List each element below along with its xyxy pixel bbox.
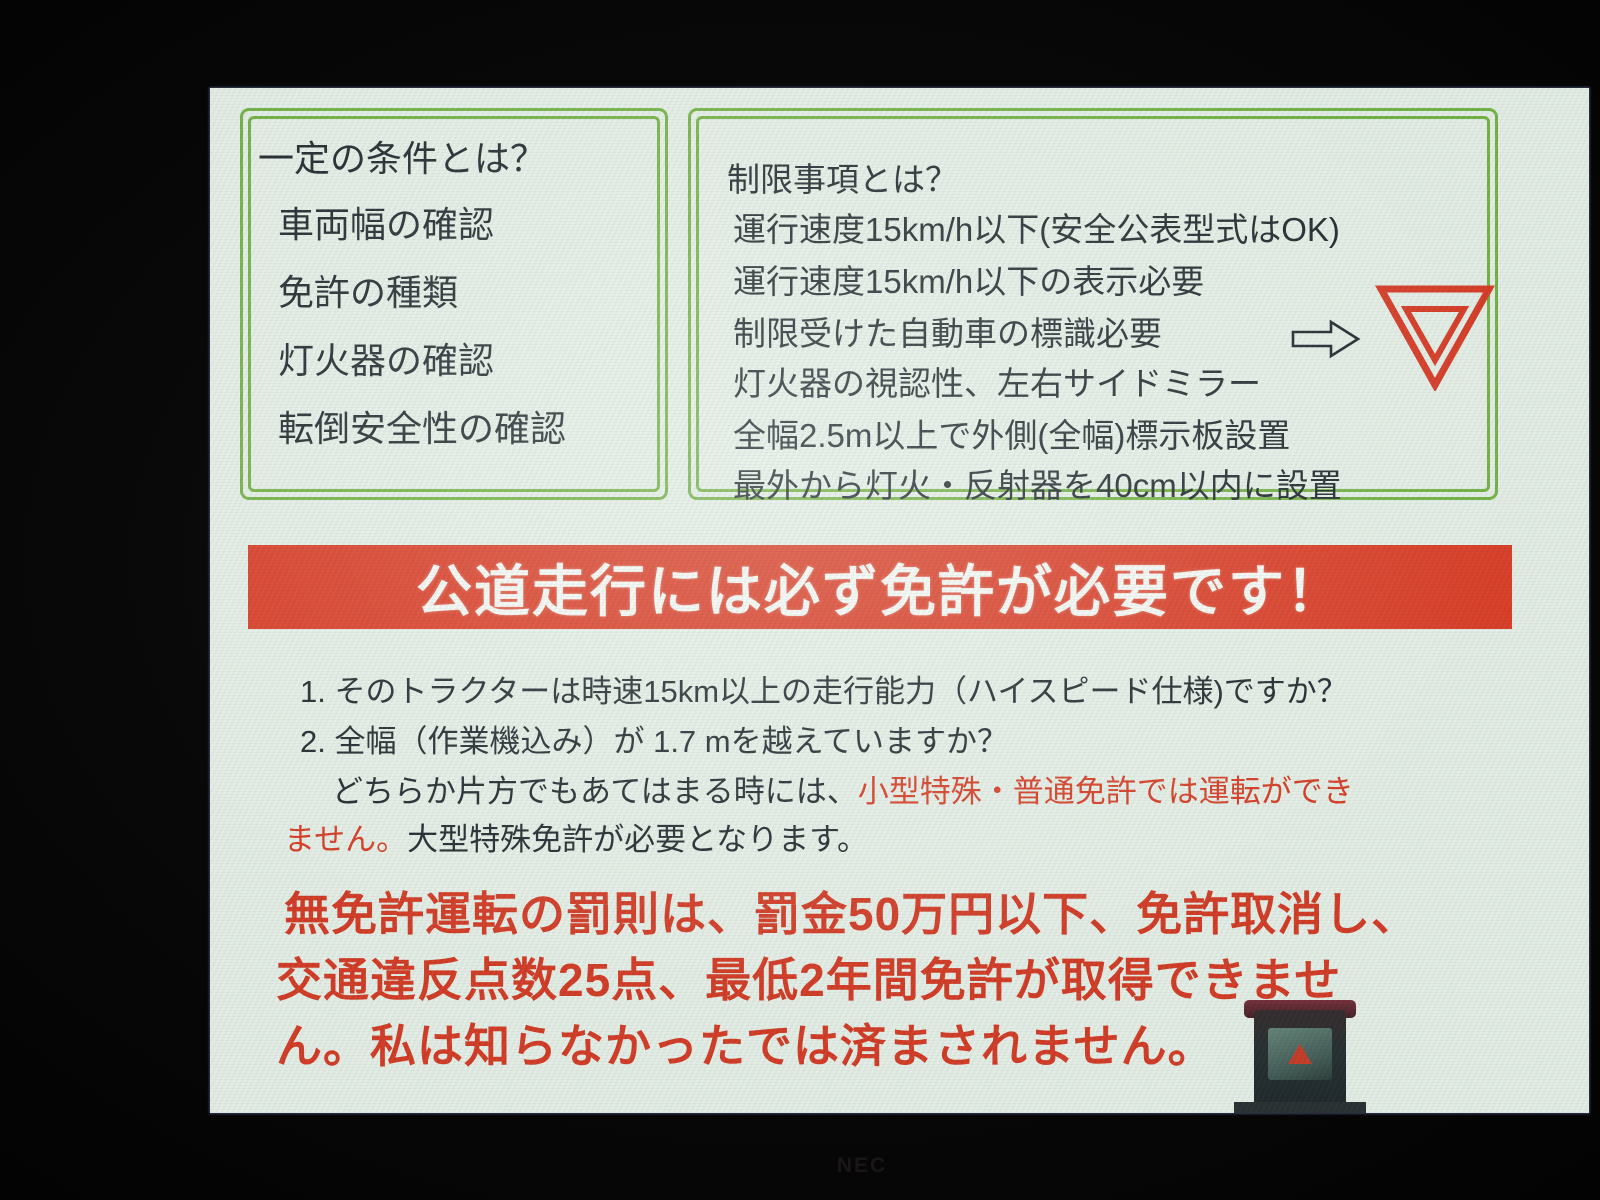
restriction-box: 制限事項とは？ 運行速度15km/h以下(安全公表型式はOK) 運行速度15km… xyxy=(688,108,1498,500)
restriction-item-speed-limit: 運行速度15km/h以下(安全公表型式はOK) xyxy=(733,203,1340,251)
yield-triangle-icon xyxy=(1375,281,1495,391)
restriction-item-vehicle-sign: 制限受けた自動車の標識必要 xyxy=(733,307,1162,355)
condition-item-rollover-safety: 転倒安全性の確認 xyxy=(278,400,566,452)
penalty-line-1: 無免許運転の罰則は、罰金50万円以下、免許取消し、 xyxy=(284,878,1418,944)
question-note-line-1: どちらか片方でもあてはまる時には、小型特殊・普通免許では運転ができ xyxy=(332,766,1354,811)
question-item-1: 1. そのトラクターは時速15km以上の走行能力（ハイスピード仕様)ですか？ xyxy=(300,666,1348,711)
question-note-black: どちらか片方でもあてはまる時には、 xyxy=(332,774,858,809)
restriction-item-reflector: 最外から灯火・反射器を40cm以内に設置 xyxy=(733,459,1342,507)
condition-item-lamp-check: 灯火器の確認 xyxy=(278,332,494,384)
condition-item-vehicle-width: 車両幅の確認 xyxy=(278,196,494,248)
restriction-item-width-board: 全幅2.5m以上で外側(全幅)標示板設置 xyxy=(733,409,1290,457)
question-item-2: 2. 全幅（作業機込み）が 1.7 mを越えていますか？ xyxy=(300,716,1008,761)
restriction-box-title: 制限事項とは？ xyxy=(727,153,958,201)
question-note-line-2: ません。大型特殊免許が必要となります。 xyxy=(284,814,868,859)
question-note-red-2: ません。 xyxy=(284,822,407,857)
banner-text: 公道走行には必ず免許が必要です！ xyxy=(416,547,1344,628)
restriction-item-mirrors: 灯火器の視認性、左右サイドミラー xyxy=(733,357,1261,405)
tractor-cab-photo xyxy=(1230,984,1370,1113)
presentation-slide: 一定の条件とは？ 車両幅の確認 免許の種類 灯火器の確認 転倒安全性の確認 制限… xyxy=(210,88,1589,1113)
question-note-black-2: 大型特殊免許が必要となります。 xyxy=(407,822,868,857)
condition-item-license-type: 免許の種類 xyxy=(278,264,458,316)
license-required-banner: 公道走行には必ず免許が必要です！ xyxy=(248,545,1512,629)
penalty-line-3: ん。私は知らなかったでは済まされません。 xyxy=(276,1010,1215,1076)
tractor-body xyxy=(1234,1102,1366,1113)
question-note-red: 小型特殊・普通免許では運転ができ xyxy=(858,774,1354,809)
restriction-item-speed-display: 運行速度15km/h以下の表示必要 xyxy=(733,255,1204,303)
nec-brand-logo: NEC xyxy=(822,1155,902,1177)
right-arrow-icon xyxy=(1291,319,1361,359)
photographed-monitor: NEC 一定の条件とは？ 車両幅の確認 免許の種類 灯火器の確認 転倒安全性の確… xyxy=(0,0,1600,1200)
tractor-warning-triangle xyxy=(1288,1044,1312,1064)
condition-box-title: 一定の条件とは？ xyxy=(258,130,546,182)
penalty-line-2: 交通違反点数25点、最低2年間免許が取得できませ xyxy=(276,944,1341,1010)
